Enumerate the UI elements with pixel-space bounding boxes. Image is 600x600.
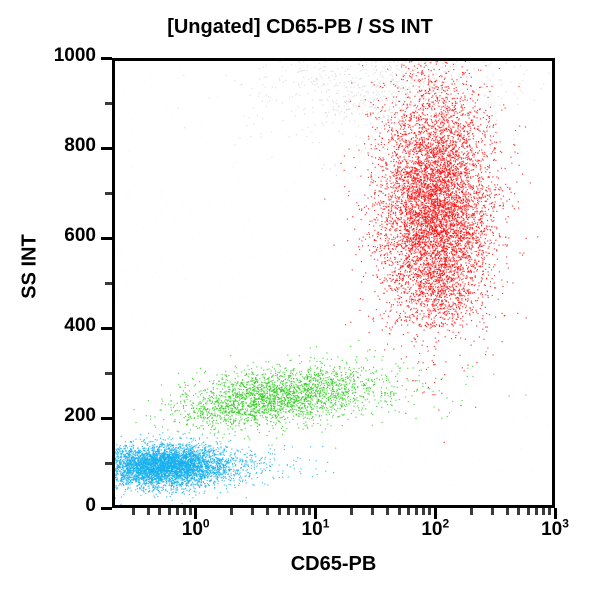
x-tick-minor (422, 508, 425, 515)
x-tick-label: 100 (161, 519, 231, 541)
x-tick-major (434, 508, 437, 519)
y-tick-minor (105, 102, 112, 105)
x-tick-minor (535, 508, 538, 515)
x-tick-minor (548, 508, 551, 515)
x-tick-minor (132, 508, 135, 515)
page-title: [Ungated] CD65-PB / SS INT (0, 16, 600, 39)
x-tick-minor (386, 508, 389, 515)
x-tick-minor (350, 508, 353, 515)
x-tick-minor (278, 508, 281, 515)
y-tick-minor (105, 282, 112, 285)
y-tick-label: 1000 (0, 45, 96, 67)
y-tick-major (101, 327, 112, 330)
x-tick-minor (506, 508, 509, 515)
x-tick-minor (407, 508, 410, 515)
x-tick-minor (176, 508, 179, 515)
y-tick-label: 600 (0, 225, 96, 247)
flow-cytometry-plot: [Ungated] CD65-PB / SS INT SS INT 020040… (0, 0, 600, 600)
y-tick-label: 800 (0, 135, 96, 157)
x-tick-minor (517, 508, 520, 515)
x-tick-major (554, 508, 557, 519)
plot-frame (112, 58, 555, 508)
y-tick-minor (105, 462, 112, 465)
x-axis-label: CD65-PB (112, 553, 555, 576)
y-tick-minor (105, 372, 112, 375)
x-tick-minor (428, 508, 431, 515)
x-tick-minor (542, 508, 545, 515)
x-tick-minor (470, 508, 473, 515)
x-tick-minor (527, 508, 530, 515)
x-tick-minor (302, 508, 305, 515)
y-tick-label: 200 (0, 405, 96, 427)
y-tick-minor (105, 192, 112, 195)
x-tick-minor (183, 508, 186, 515)
y-tick-label: 400 (0, 315, 96, 337)
y-tick-major (101, 417, 112, 420)
y-tick-major (101, 507, 112, 510)
x-tick-minor (266, 508, 269, 515)
x-tick-minor (287, 508, 290, 515)
x-tick-minor (371, 508, 374, 515)
x-tick-minor (230, 508, 233, 515)
x-tick-label: 101 (280, 519, 350, 541)
y-tick-label: 0 (0, 495, 96, 517)
y-tick-major (101, 57, 112, 60)
x-tick-minor (398, 508, 401, 515)
y-tick-major (101, 147, 112, 150)
x-tick-minor (168, 508, 171, 515)
x-tick-minor (147, 508, 150, 515)
x-tick-minor (158, 508, 161, 515)
x-tick-label: 102 (400, 519, 470, 541)
x-tick-minor (251, 508, 254, 515)
x-tick-major (194, 508, 197, 519)
x-tick-minor (308, 508, 311, 515)
scatter-points-canvas (115, 61, 552, 505)
x-tick-major (314, 508, 317, 519)
x-tick-minor (415, 508, 418, 515)
y-tick-major (101, 237, 112, 240)
x-tick-minor (189, 508, 192, 515)
x-tick-minor (295, 508, 298, 515)
x-tick-label: 103 (520, 519, 590, 541)
x-tick-minor (491, 508, 494, 515)
